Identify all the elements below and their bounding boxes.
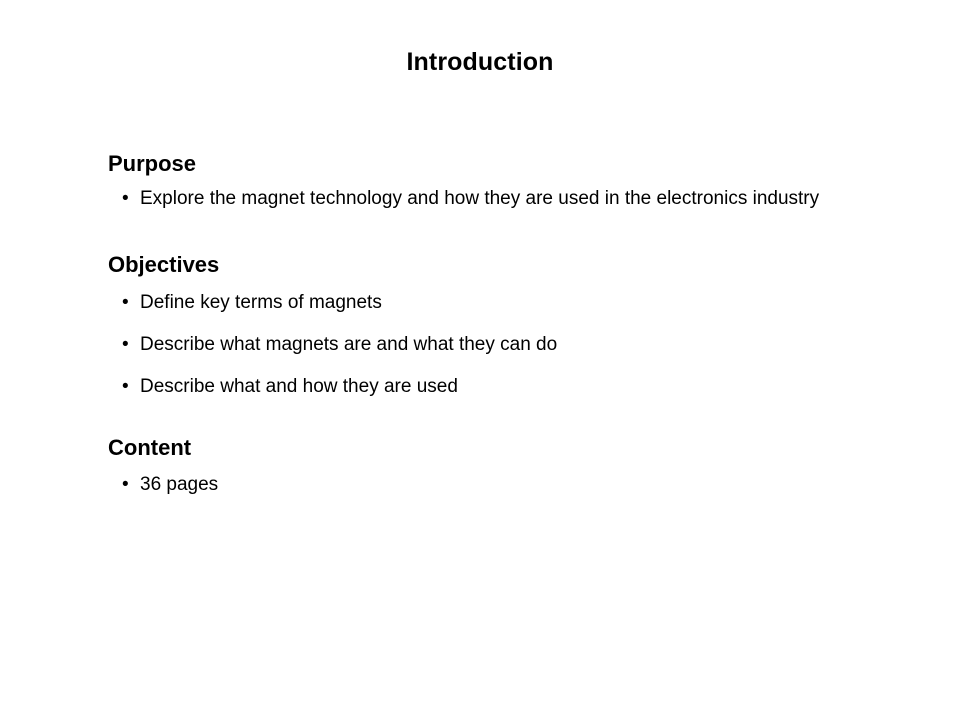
bullet-point-icon: • bbox=[122, 472, 129, 497]
bullet-list-purpose: • Explore the magnet technology and how … bbox=[108, 186, 868, 211]
bullet-point-icon: • bbox=[122, 186, 129, 211]
list-item: • 36 pages bbox=[108, 472, 868, 497]
bullet-point-icon: • bbox=[122, 374, 129, 399]
slide-body: Purpose • Explore the magnet technology … bbox=[108, 152, 868, 497]
slide-title: Introduction bbox=[0, 48, 960, 77]
section-heading-objectives: Objectives bbox=[108, 253, 868, 278]
list-item-label: Explore the magnet technology and how th… bbox=[140, 188, 819, 209]
bullet-list-objectives: • Define key terms of magnets • Describe… bbox=[108, 290, 868, 399]
section-purpose: Purpose • Explore the magnet technology … bbox=[108, 152, 868, 211]
section-objectives: Objectives • Define key terms of magnets… bbox=[108, 253, 868, 400]
list-item: • Define key terms of magnets bbox=[108, 290, 868, 315]
list-item-label: 36 pages bbox=[140, 474, 218, 495]
section-heading-content: Content bbox=[108, 436, 868, 461]
list-item-label: Describe what and how they are used bbox=[140, 376, 458, 397]
bullet-list-content: • 36 pages bbox=[108, 472, 868, 497]
section-heading-purpose: Purpose bbox=[108, 152, 868, 177]
list-item: • Describe what magnets are and what the… bbox=[108, 332, 868, 357]
section-content: Content • 36 pages bbox=[108, 436, 868, 498]
list-item: • Describe what and how they are used bbox=[108, 374, 868, 399]
list-item: • Explore the magnet technology and how … bbox=[108, 186, 830, 211]
list-item-label: Describe what magnets are and what they … bbox=[140, 334, 557, 355]
bullet-point-icon: • bbox=[122, 290, 129, 315]
slide: Introduction Purpose • Explore the magne… bbox=[0, 0, 960, 720]
list-item-label: Define key terms of magnets bbox=[140, 292, 382, 313]
bullet-point-icon: • bbox=[122, 332, 129, 357]
